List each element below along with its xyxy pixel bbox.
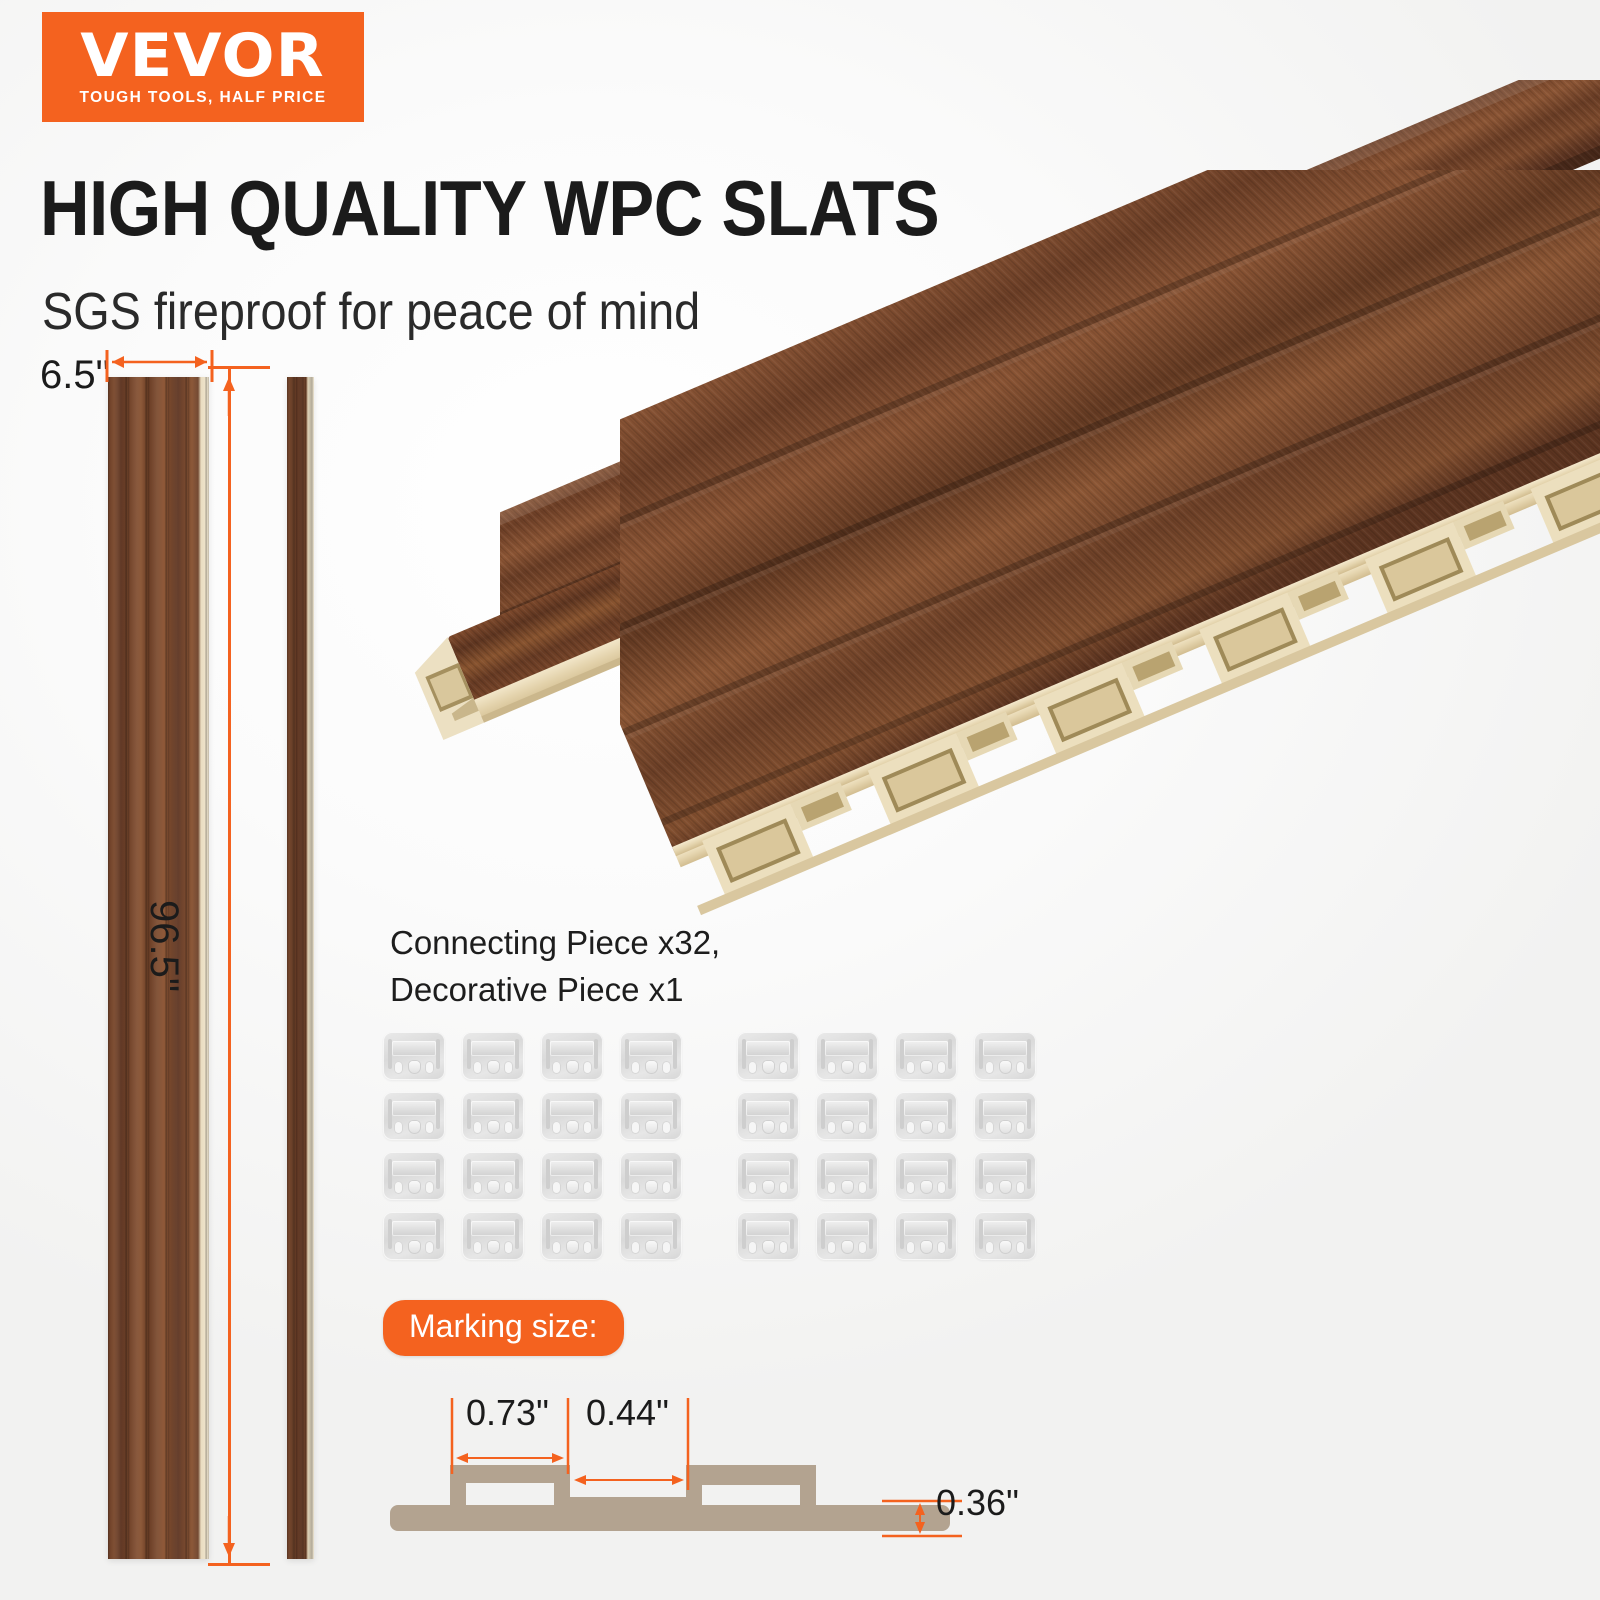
clip-row [383,1032,1053,1080]
connecting-piece-clip [737,1032,799,1080]
connecting-piece-clip [974,1212,1036,1260]
parts-line-decorative: Decorative Piece x1 [390,967,720,1014]
connecting-piece-clip [541,1152,603,1200]
connecting-piece-clip [620,1212,682,1260]
clip-row [383,1152,1053,1200]
connecting-piece-clip [541,1212,603,1260]
connecting-piece-clip [895,1152,957,1200]
clip-row [383,1212,1053,1260]
clip-row [383,1092,1053,1140]
connecting-piece-clip [974,1152,1036,1200]
narrow-trim-slat [287,377,314,1559]
connecting-piece-clip [620,1032,682,1080]
connecting-piece-clip [895,1032,957,1080]
width-dimension-label: 6.5" [40,353,110,398]
length-dimension-tick-bottom [208,1563,270,1566]
connecting-piece-clip [541,1032,603,1080]
parts-line-connecting: Connecting Piece x32, [390,920,720,967]
length-arrow-top [219,374,239,418]
connecting-piece-clip [737,1212,799,1260]
connecting-piece-clip [737,1152,799,1200]
connecting-piece-clip [462,1152,524,1200]
connecting-piece-clip [462,1032,524,1080]
connecting-piece-clip [895,1212,957,1260]
length-arrow-bottom [219,1514,239,1560]
connecting-piece-clip [974,1032,1036,1080]
connecting-piece-clip [462,1212,524,1260]
rib-width-label: 0.73" [466,1392,549,1434]
connecting-piece-clip [383,1212,445,1260]
connecting-piece-clip [541,1092,603,1140]
thickness-label: 0.36" [936,1482,1019,1524]
connecting-piece-clip [816,1212,878,1260]
connecting-piece-clip [462,1092,524,1140]
page-subtitle: SGS fireproof for peace of mind [42,282,700,342]
connecting-piece-clip [816,1092,878,1140]
connecting-piece-clip [383,1032,445,1080]
connecting-piece-grid [383,1032,1053,1272]
connecting-piece-clip [895,1092,957,1140]
length-dimension-line [228,366,231,1566]
connecting-piece-clip [383,1092,445,1140]
connecting-piece-clip [974,1092,1036,1140]
connecting-piece-clip [737,1092,799,1140]
connecting-piece-clip [620,1092,682,1140]
page-title: HIGH QUALITY WPC SLATS [40,163,939,254]
brand-name: VEVOR [81,28,325,85]
brand-tagline: TOUGH TOOLS, HALF PRICE [80,89,327,107]
connecting-piece-clip [383,1152,445,1200]
vevor-logo: VEVOR TOUGH TOOLS, HALF PRICE [42,12,364,122]
gap-width-label: 0.44" [586,1392,669,1434]
length-dimension-tick-top [208,366,270,369]
parts-list: Connecting Piece x32, Decorative Piece x… [390,920,720,1014]
length-dimension-label: 96.5" [141,900,186,992]
photo-main-slat-panel [620,170,1600,1050]
marking-size-badge: Marking size: [383,1300,624,1356]
product-infographic: VEVOR TOUGH TOOLS, HALF PRICE HIGH QUALI… [0,0,1600,1600]
connecting-piece-clip [816,1152,878,1200]
connecting-piece-clip [816,1032,878,1080]
connecting-piece-clip [620,1152,682,1200]
